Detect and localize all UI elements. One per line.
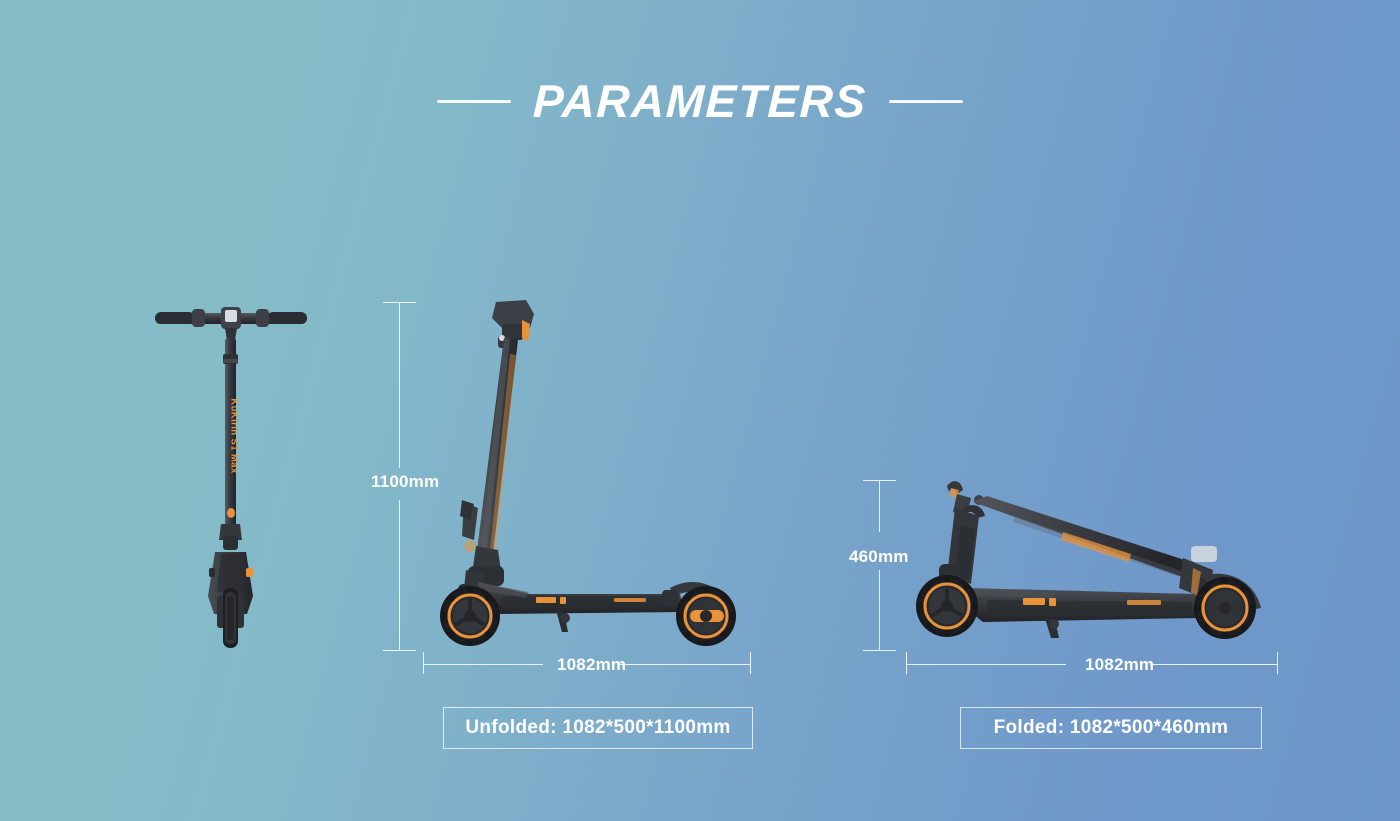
folded-caption-text: Folded: 1082*500*460mm	[994, 717, 1229, 739]
unfolded-caption-box: Unfolded: 1082*500*1100mm	[443, 707, 753, 749]
folded-height-line-upper	[879, 480, 880, 532]
unfolded-length-cap-right	[750, 652, 751, 674]
folded-length-cap-right	[1277, 652, 1278, 674]
scooter-front-view: KuKirin S1 Max	[143, 296, 318, 648]
folded-height-cap-bottom	[863, 650, 896, 651]
unfolded-height-cap-top	[383, 302, 416, 303]
unfolded-caption-text: Unfolded: 1082*500*1100mm	[465, 717, 730, 739]
scooter-folded-side-view	[895, 472, 1285, 652]
folded-length-line-right	[1150, 664, 1277, 665]
title-label: PARAMETERS	[532, 78, 867, 124]
unfolded-length-line-right	[620, 664, 750, 665]
folded-length-label: 1082mm	[1076, 656, 1163, 673]
title-rule-left	[437, 100, 511, 103]
title-rule-right	[889, 100, 963, 103]
unfolded-height-cap-bottom	[383, 650, 416, 651]
unfolded-height-line-upper	[399, 302, 400, 468]
folded-length-line-left	[906, 664, 1066, 665]
parameters-infographic: PARAMETERS	[0, 0, 1400, 821]
folded-caption-box: Folded: 1082*500*460mm	[960, 707, 1262, 749]
unfolded-length-cap-left	[423, 652, 424, 674]
unfolded-length-label: 1082mm	[548, 656, 635, 673]
unfolded-height-line-lower	[399, 500, 400, 650]
scooter-unfolded-side-view	[418, 294, 758, 644]
folded-height-cap-top	[863, 480, 896, 481]
stem-brand-text: KuKirin S1 Max	[229, 398, 240, 474]
folded-height-line-lower	[879, 570, 880, 650]
unfolded-length-line-left	[423, 664, 543, 665]
page-title: PARAMETERS	[0, 78, 1400, 124]
folded-length-cap-left	[906, 652, 907, 674]
